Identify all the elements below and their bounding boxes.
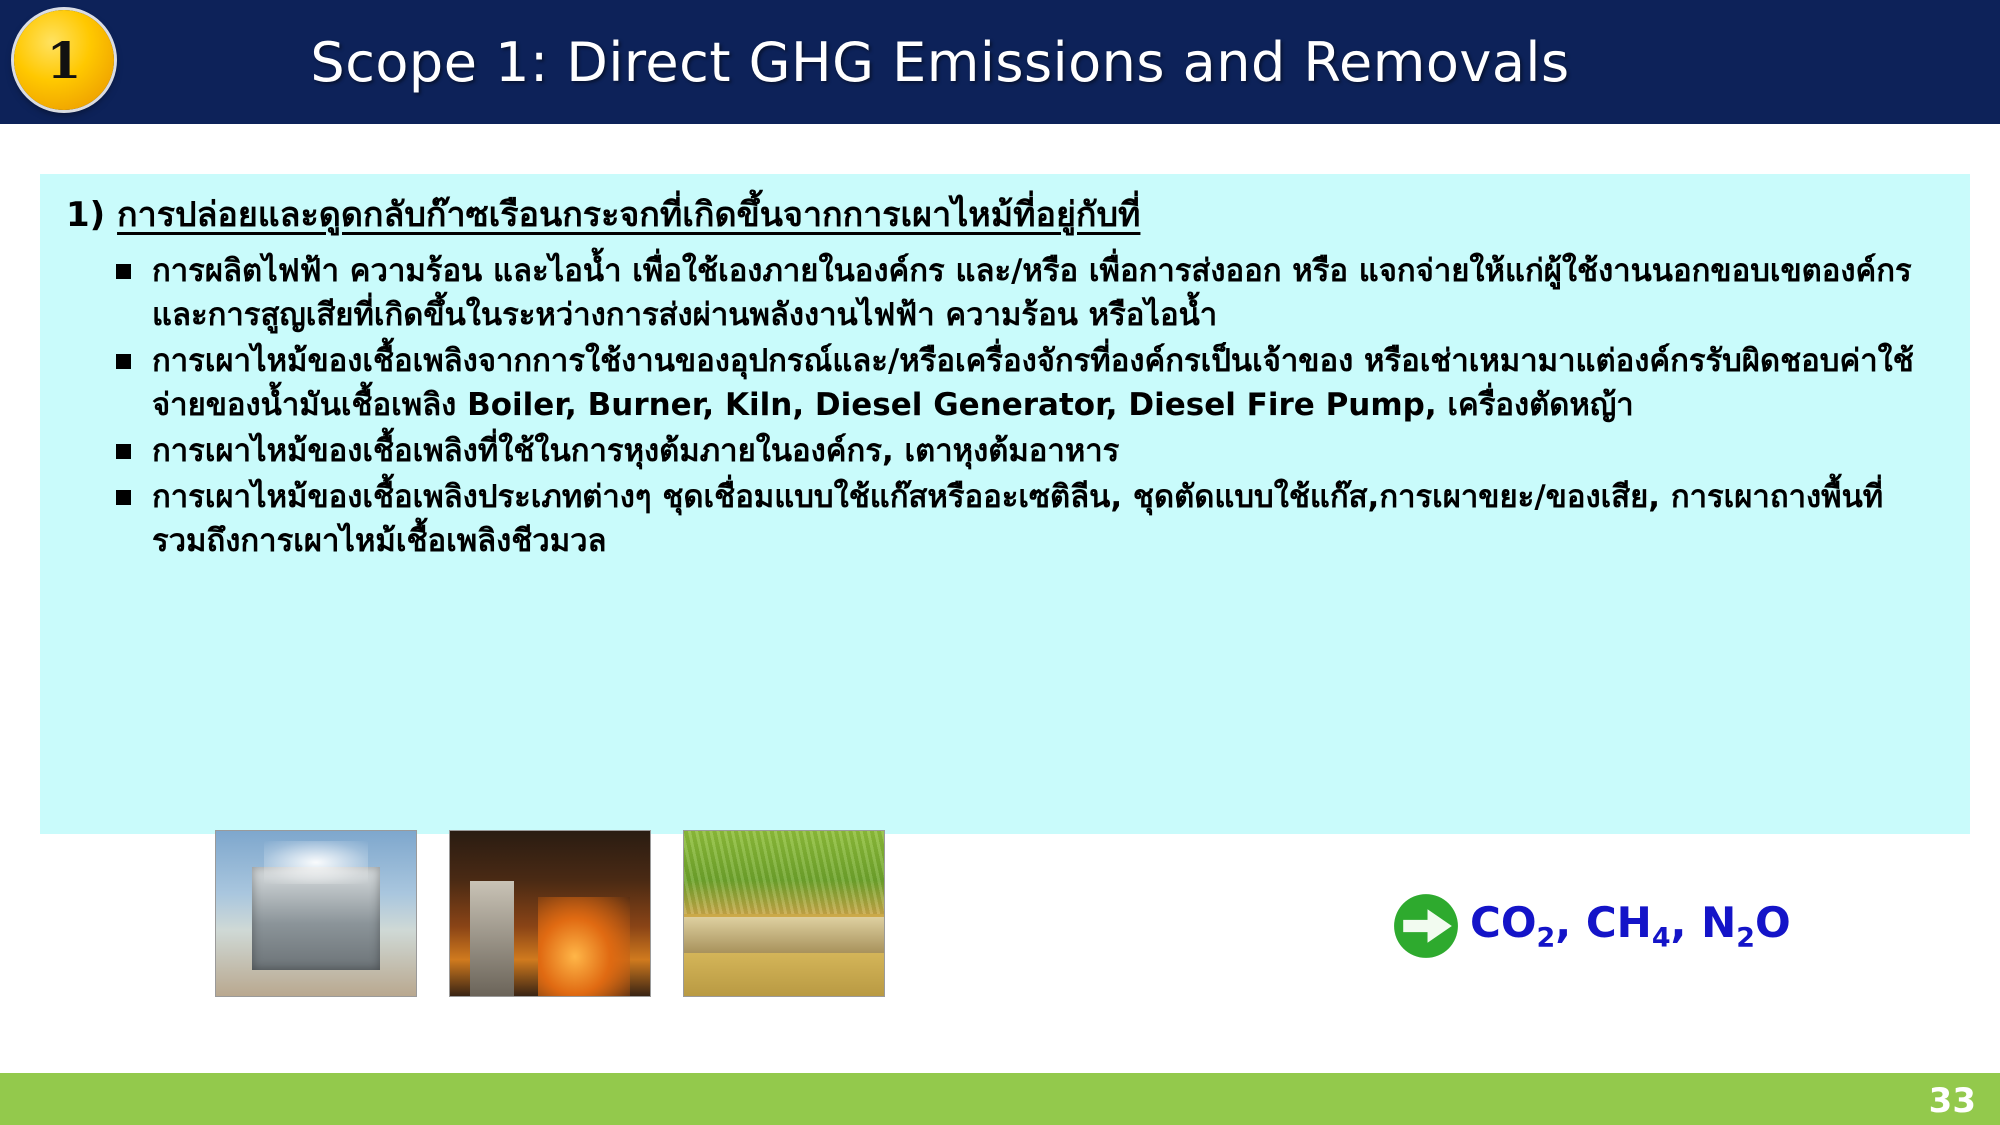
header-bar: Scope 1: Direct GHG Emissions and Remova… — [0, 0, 2000, 124]
list-item-text: การผลิตไฟฟ้า ความร้อน และไอน้ำ เพื่อใช้เ… — [152, 253, 1912, 333]
list-item-text: การเผาไหม้ของเชื้อเพลิงที่ใช้ในการหุงต้ม… — [152, 433, 1119, 469]
gas-callout: CO2, CH4, N2O — [1388, 888, 1791, 964]
page-title: Scope 1: Direct GHG Emissions and Remova… — [0, 0, 2000, 124]
section-heading: 1) การปล่อยและดูดกลับก๊าซเรือนกระจกที่เก… — [66, 196, 1940, 235]
footer-bar — [0, 1073, 2000, 1125]
gas-n2o: N2O — [1701, 898, 1791, 947]
list-item: การผลิตไฟฟ้า ความร้อน และไอน้ำ เพื่อใช้เ… — [152, 249, 1940, 337]
section-heading-number: 1) — [66, 195, 105, 235]
square-bullet-icon — [116, 354, 131, 369]
square-bullet-icon — [116, 444, 131, 459]
photo-strip — [215, 830, 885, 997]
flare-stack-fire-photo — [449, 830, 651, 997]
list-item: การเผาไหม้ของเชื้อเพลิงจากการใช้งานของอุ… — [152, 339, 1940, 427]
square-bullet-icon — [116, 264, 131, 279]
green-arrow-right-icon — [1388, 888, 1464, 964]
scope-number-badge: 1 — [14, 10, 114, 110]
list-item: การเผาไหม้ของเชื้อเพลิงที่ใช้ในการหุงต้ม… — [152, 429, 1940, 473]
gas-ch4: CH4, — [1586, 898, 1687, 947]
bullet-list: การผลิตไฟฟ้า ความร้อน และไอน้ำ เพื่อใช้เ… — [54, 249, 1940, 563]
list-item: การเผาไหม้ของเชื้อเพลิงประเภทต่างๆ ชุดเช… — [152, 475, 1940, 563]
industrial-plant-steam-photo — [215, 830, 417, 997]
list-item-text: การเผาไหม้ของเชื้อเพลิงจากการใช้งานของอุ… — [152, 343, 1914, 423]
content-panel: 1) การปล่อยและดูดกลับก๊าซเรือนกระจกที่เก… — [40, 174, 1970, 834]
gas-species-label: CO2, CH4, N2O — [1470, 898, 1791, 953]
page-number: 33 — [1929, 1081, 1976, 1121]
square-bullet-icon — [116, 490, 131, 505]
gas-co2: CO2, — [1470, 898, 1571, 947]
list-item-text: การเผาไหม้ของเชื้อเพลิงประเภทต่างๆ ชุดเช… — [152, 479, 1883, 559]
biomass-sugarcane-field-photo — [683, 830, 885, 997]
section-heading-text: การปล่อยและดูดกลับก๊าซเรือนกระจกที่เกิดข… — [117, 195, 1140, 235]
